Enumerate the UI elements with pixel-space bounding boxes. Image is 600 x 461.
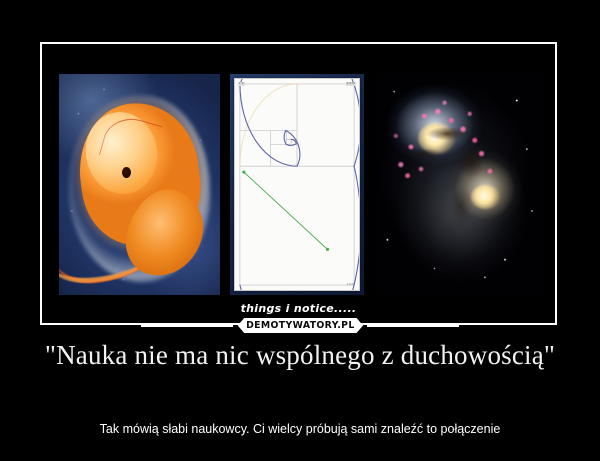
- photo-strip: 1.0 0.618 1.618: [59, 74, 542, 295]
- spiral-label-top-left: 1.0: [238, 82, 245, 86]
- watermark-rule-left: [141, 324, 233, 327]
- spiral-label-top-right: 0.618: [346, 82, 356, 86]
- strip-caption: things i notice.....: [42, 302, 555, 315]
- demotivator-image-frame: 1.0 0.618 1.618 things i notice.....: [40, 42, 557, 325]
- panel-antennae-galaxies: [374, 74, 542, 295]
- watermark-banner: DEMOTYWATORY.PL: [0, 318, 600, 333]
- golden-spiral-svg: [235, 79, 359, 290]
- panel-human-embryo: [59, 74, 220, 295]
- embryo-eye: [122, 167, 131, 178]
- watermark-label: DEMOTYWATORY.PL: [237, 318, 362, 333]
- meme-subtitle: Tak mówią słabi naukowcy. Ci wielcy prób…: [24, 422, 576, 436]
- meme-title: "Nauka nie ma nic wspólnego z duchowości…: [30, 340, 570, 372]
- spiral-label-bottom-right: 1.618: [346, 283, 356, 287]
- galaxy-foreground-stars: [374, 74, 542, 295]
- spiral-paper-sheet: 1.0 0.618 1.618: [234, 78, 360, 291]
- panel-golden-ratio-diagram: 1.0 0.618 1.618: [230, 74, 364, 295]
- watermark-rule-right: [367, 324, 459, 327]
